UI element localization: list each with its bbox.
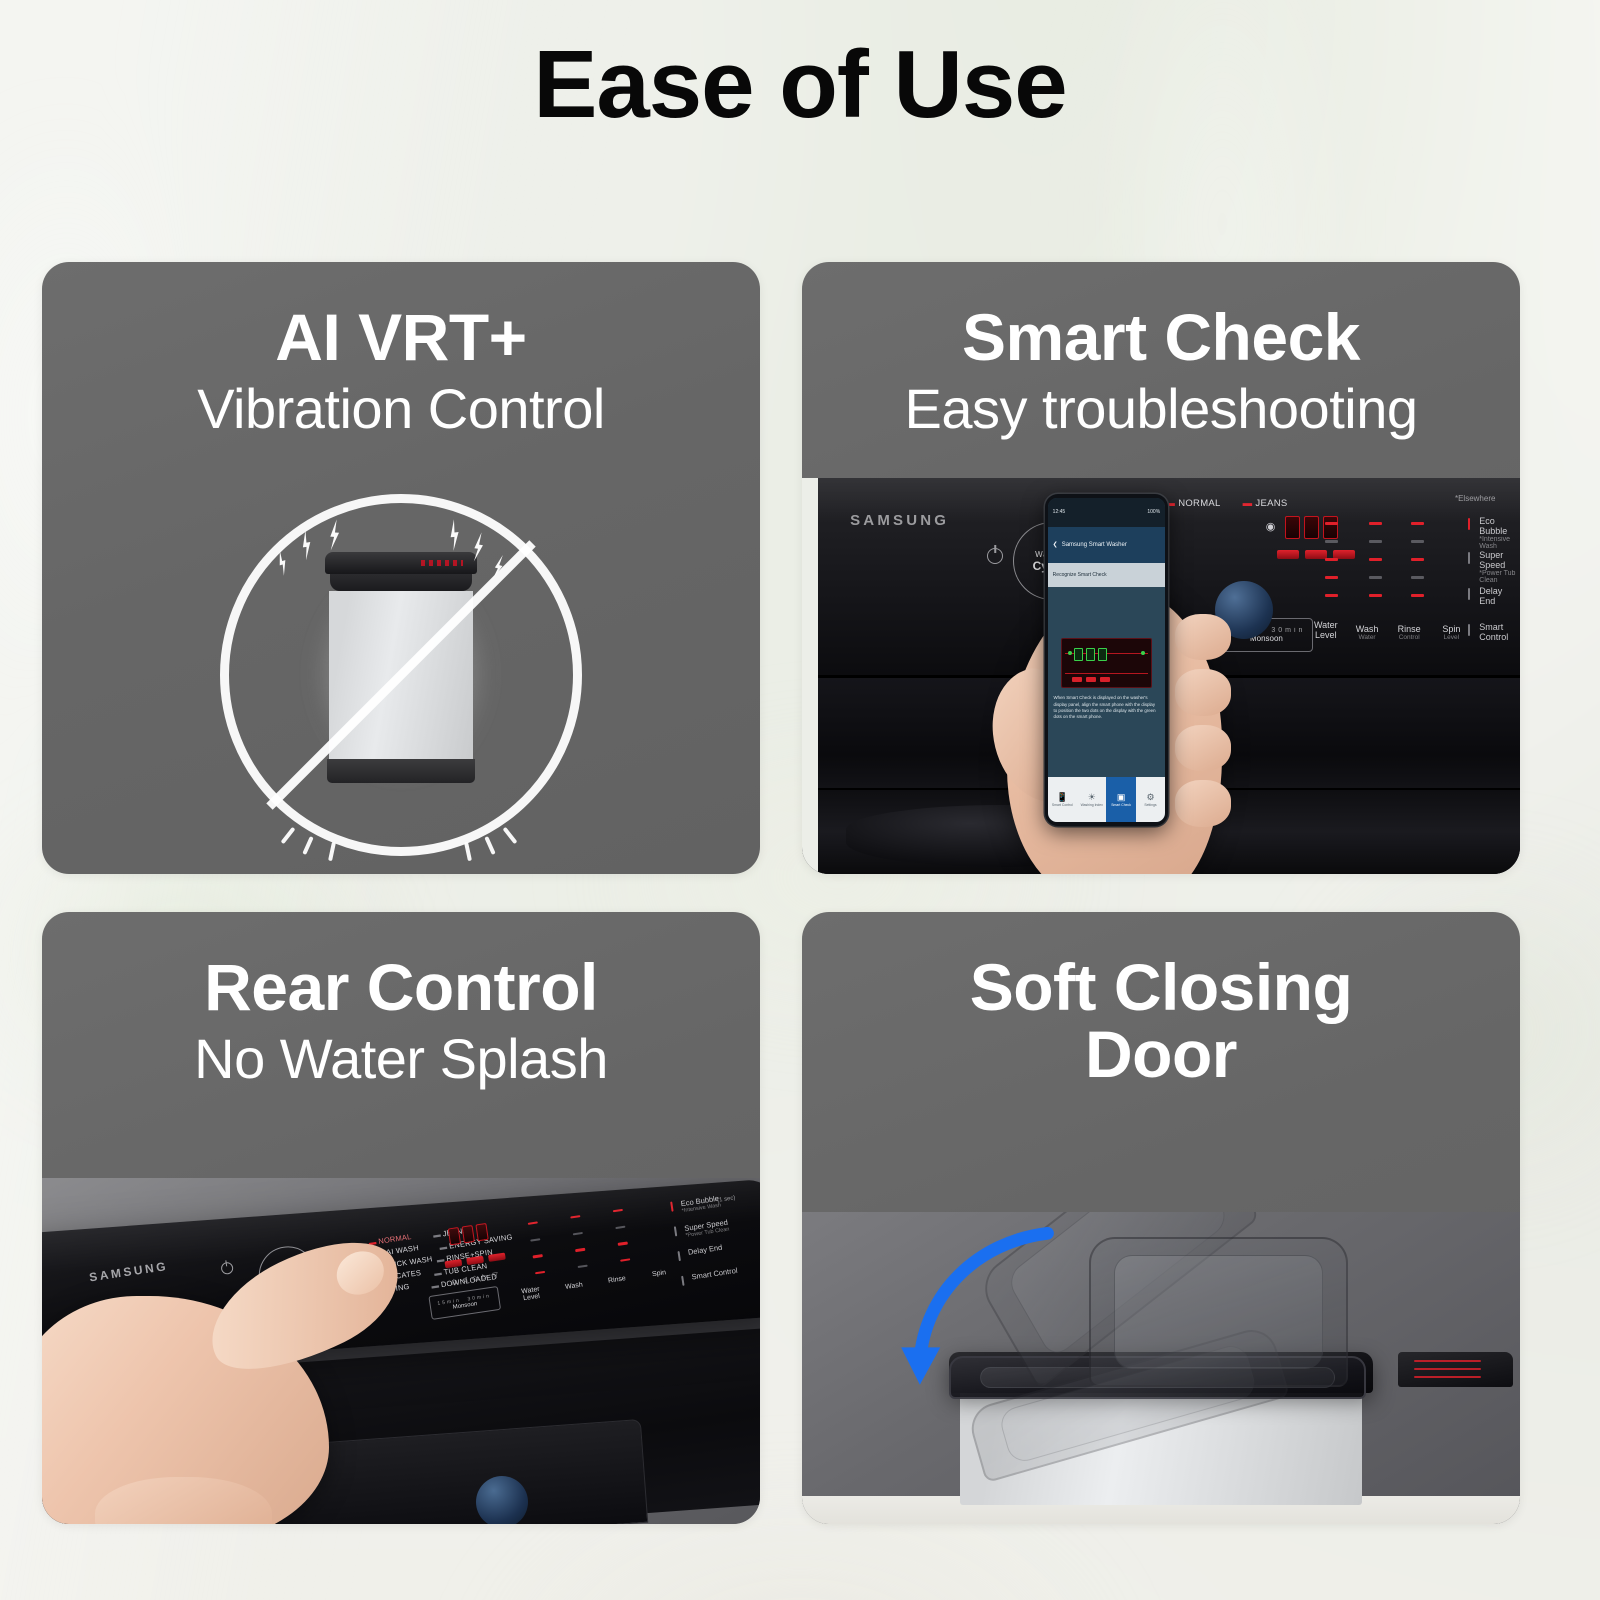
smartphone[interactable]: 12:45 100% ❮ Samsung Smart Washer Recogn… [1045, 494, 1168, 827]
feature-card-rear-control[interactable]: Rear Control No Water Splash SAMSUNG Was… [42, 912, 760, 1524]
panel-footnote: *Elsewhere [1455, 494, 1495, 503]
led-display [1285, 516, 1338, 539]
smart-check-photo: SAMSUNG Washing Cycles ▷❙❙ ▬NORMAL ▬JEAN… [802, 478, 1520, 874]
hand-pointing-finger [42, 1296, 329, 1524]
vibration-tick [302, 836, 313, 855]
sun-icon: ☀ [1088, 793, 1096, 802]
card-subtitle: Vibration Control [64, 379, 738, 438]
nav-item-smart-check[interactable]: ▣Smart Check [1106, 777, 1135, 822]
feature-card-grid: AI VRT+ Vibration Control [42, 262, 1558, 1562]
phone-icon: 📱 [1057, 793, 1068, 802]
gear-icon: ⚙ [1146, 793, 1154, 802]
card-header: Smart Check Easy troubleshooting [802, 304, 1520, 439]
no-vibration-graphic [42, 480, 760, 874]
card-header: Rear Control No Water Splash [42, 954, 760, 1089]
chevron-left-icon[interactable]: ❮ [1053, 541, 1058, 548]
function-label-smart-control[interactable]: Smart Control [691, 1266, 738, 1282]
washer-control-panel-small [1398, 1352, 1513, 1386]
status-time: 12:45 [1053, 509, 1066, 515]
card-header: Soft Closing Door [802, 954, 1520, 1089]
panel-label-rinse: RinseControl [1392, 624, 1426, 641]
feature-card-soft-closing-door[interactable]: Soft Closing Door [802, 912, 1520, 1524]
function-label-super-speed[interactable]: Super Speed*Power Tub Clean [684, 1217, 730, 1238]
function-label-eco-bubble[interactable]: Eco Bubble*Intensive Wash [1479, 516, 1520, 550]
app-title-bar: ❮ Samsung Smart Washer [1048, 527, 1165, 563]
section-label: Recognize Smart Check [1048, 563, 1165, 587]
panel-label-wash: WashWater [1350, 624, 1384, 641]
closing-motion-arrow-icon [816, 1218, 1146, 1405]
blue-ball-prop [476, 1476, 528, 1524]
vibration-tick [484, 836, 495, 855]
card-title: AI VRT+ [64, 304, 738, 371]
power-icon[interactable] [221, 1261, 235, 1275]
nav-item-smart-control[interactable]: 📱Smart Control [1048, 777, 1077, 822]
panel-label-water-level: Water Level [515, 1284, 549, 1303]
function-label-eco-bubble[interactable]: Eco Bubble*Intensive Wash [681, 1193, 722, 1214]
soft-closing-door-photo [802, 1212, 1520, 1524]
option-button-row[interactable] [1277, 550, 1355, 559]
panel-label-water-level: Water Level [1306, 620, 1346, 640]
instruction-text: When Smart Check is displayed on the was… [1054, 695, 1160, 721]
rear-control-photo: SAMSUNG Washing Cycles ▷❙❙ ▬NORMAL ▬AI W… [42, 1178, 760, 1524]
vibration-tick [281, 827, 296, 844]
function-label-smart-control[interactable]: Smart Control [1479, 622, 1520, 642]
feature-card-smart-check[interactable]: Smart Check Easy troubleshooting SAMSUNG… [802, 262, 1520, 874]
vibration-tick [503, 827, 518, 844]
cycle-indicator-jeans: ▬JEANS [1243, 498, 1288, 509]
vibration-tick [328, 842, 336, 861]
phone-status-bar: 12:45 100% [1048, 498, 1165, 527]
page-title: Ease of Use [0, 34, 1600, 136]
card-title-line1: Soft Closing [824, 954, 1498, 1021]
panel-label-rinse: Rinse [603, 1275, 632, 1286]
nav-item-settings[interactable]: ⚙Settings [1136, 777, 1165, 822]
card-title-line2: Door [824, 1021, 1498, 1088]
cycle-jeans[interactable]: ▬JEANS [433, 1226, 469, 1240]
cycle-indicator-normal: ▬NORMAL [1165, 498, 1220, 509]
function-label-delay-end[interactable]: Delay End [688, 1243, 724, 1257]
app-title: Samsung Smart Washer [1062, 542, 1127, 548]
card-subtitle: No Water Splash [64, 1029, 738, 1088]
panel-label-spin: Spin [645, 1268, 674, 1279]
function-label-delay-end[interactable]: Delay End [1479, 586, 1520, 606]
panel-label-wash: Wash [560, 1281, 589, 1292]
cycle-energy-saving[interactable]: ▬ENERGY SAVING [439, 1232, 513, 1252]
panel-footnote: *(1 sec) [715, 1195, 736, 1204]
smart-check-display-graphic [1061, 638, 1153, 687]
panel-label-spin: SpinLevel [1434, 624, 1468, 641]
power-icon[interactable] [987, 548, 1003, 564]
samsung-logo: SAMSUNG [89, 1258, 170, 1283]
card-title: Rear Control [64, 954, 738, 1021]
card-header: AI VRT+ Vibration Control [42, 304, 760, 439]
vibration-tick [464, 842, 472, 861]
feature-card-ai-vrt-plus[interactable]: AI VRT+ Vibration Control [42, 262, 760, 874]
samsung-logo: SAMSUNG [850, 512, 949, 529]
card-subtitle: Easy troubleshooting [824, 379, 1498, 438]
monsoon-option-box[interactable]: 15min 30min Monsoon [429, 1286, 502, 1320]
card-title: Smart Check [824, 304, 1498, 371]
wifi-icon: ◉ [1266, 520, 1276, 533]
phone-bottom-nav[interactable]: 📱Smart Control ☀Washing Index ▣Smart Che… [1048, 777, 1165, 822]
scan-icon: ▣ [1117, 793, 1126, 802]
status-battery: 100% [1147, 509, 1160, 515]
nav-item-washing-index[interactable]: ☀Washing Index [1077, 777, 1106, 822]
function-label-super-speed[interactable]: Super Speed*Power Tub Clean [1479, 550, 1520, 584]
